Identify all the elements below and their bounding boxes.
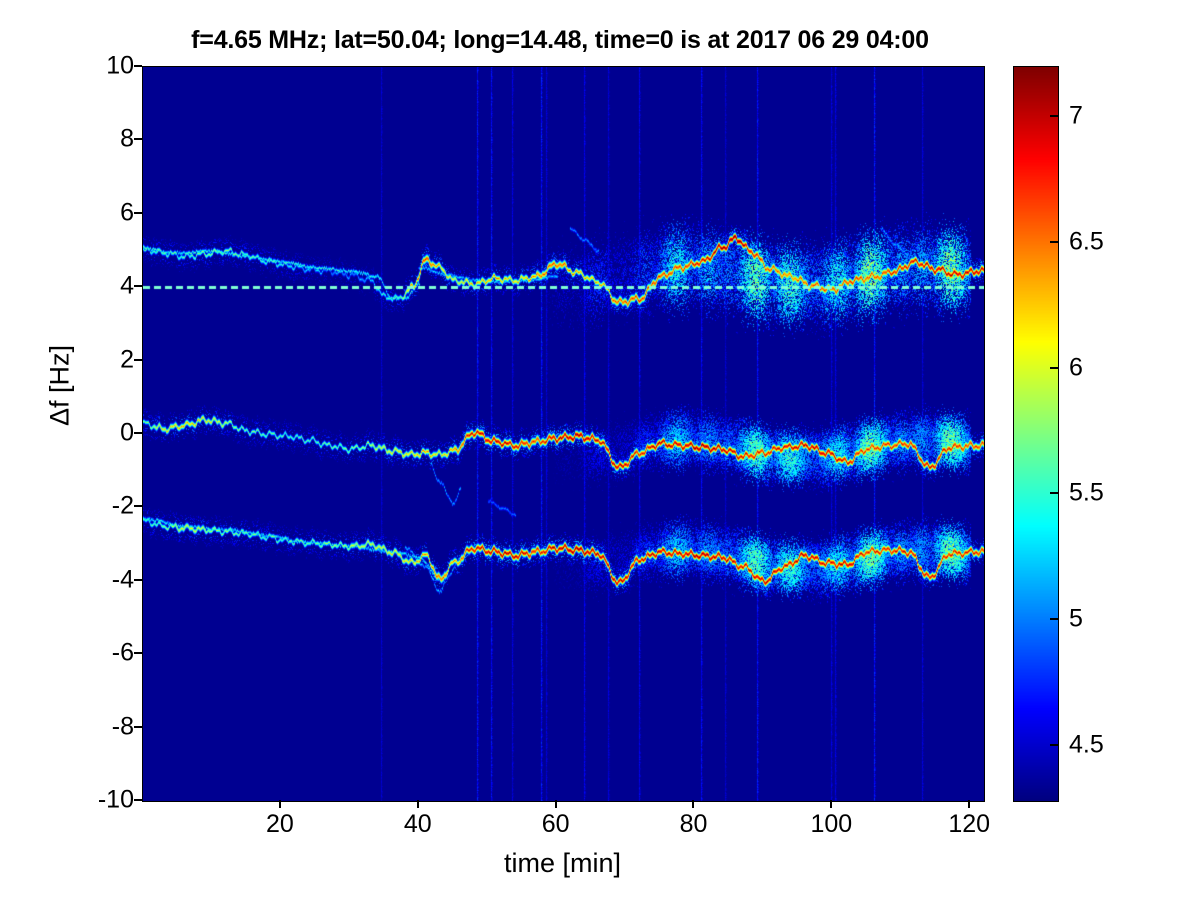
- y-tick-mark: [134, 212, 142, 214]
- y-tick-label: -6: [80, 639, 134, 668]
- colorbar-tick-label: 5: [1069, 605, 1083, 634]
- figure-canvas: f=4.65 MHz; lat=50.04; long=14.48, time=…: [0, 0, 1200, 900]
- y-tick-label: 0: [80, 419, 134, 448]
- y-tick-label: 10: [80, 52, 134, 81]
- colorbar-ticks: 4.555.566.57: [1013, 66, 1133, 800]
- colorbar-tick-label: 5.5: [1069, 479, 1104, 508]
- x-tick-label: 20: [240, 810, 320, 839]
- x-tick-label: 60: [516, 810, 596, 839]
- y-tick-mark: [134, 285, 142, 287]
- colorbar-tick-mark: [1050, 618, 1059, 620]
- page-title: f=4.65 MHz; lat=50.04; long=14.48, time=…: [0, 26, 1120, 55]
- y-tick-mark: [134, 138, 142, 140]
- colorbar-tick-mark: [1050, 367, 1059, 369]
- y-tick-label: -8: [80, 712, 134, 741]
- colorbar-tick-label: 4.5: [1069, 730, 1104, 759]
- y-tick-label: 2: [80, 345, 134, 374]
- x-tick-mark: [830, 800, 832, 808]
- x-tick-label: 80: [653, 810, 733, 839]
- y-tick-mark: [134, 799, 142, 801]
- x-tick-mark: [417, 800, 419, 808]
- colorbar-tick-label: 6.5: [1069, 227, 1104, 256]
- colorbar-tick-mark: [1050, 744, 1059, 746]
- y-tick-mark: [134, 359, 142, 361]
- x-tick-label: 40: [378, 810, 458, 839]
- colorbar-tick-label: 7: [1069, 102, 1083, 131]
- y-tick-mark: [134, 726, 142, 728]
- x-axis-ticks: 20406080100120: [142, 810, 983, 844]
- y-tick-mark: [134, 505, 142, 507]
- y-tick-mark: [134, 432, 142, 434]
- x-tick-label: 100: [791, 810, 871, 839]
- x-tick-mark: [692, 800, 694, 808]
- y-tick-label: 4: [80, 272, 134, 301]
- y-axis-ticks: 1086420-2-4-6-8-10: [72, 66, 134, 800]
- y-tick-label: -4: [80, 565, 134, 594]
- colorbar-tick-label: 6: [1069, 353, 1083, 382]
- x-axis-label: time [min]: [142, 848, 983, 879]
- y-tick-mark: [134, 65, 142, 67]
- y-tick-label: 8: [80, 125, 134, 154]
- colorbar-tick-mark: [1050, 492, 1059, 494]
- x-tick-mark: [968, 800, 970, 808]
- y-tick-mark: [134, 579, 142, 581]
- spectrogram-plot: [142, 66, 985, 802]
- spectrogram-image: [143, 67, 984, 801]
- y-tick-label: 6: [80, 198, 134, 227]
- colorbar-tick-mark: [1050, 241, 1059, 243]
- x-tick-mark: [555, 800, 557, 808]
- x-tick-label: 120: [929, 810, 1009, 839]
- colorbar-tick-mark: [1050, 115, 1059, 117]
- y-tick-mark: [134, 652, 142, 654]
- y-axis-label: Δf [Hz]: [45, 286, 76, 486]
- x-tick-mark: [279, 800, 281, 808]
- y-tick-label: -2: [80, 492, 134, 521]
- y-tick-label: -10: [80, 786, 134, 815]
